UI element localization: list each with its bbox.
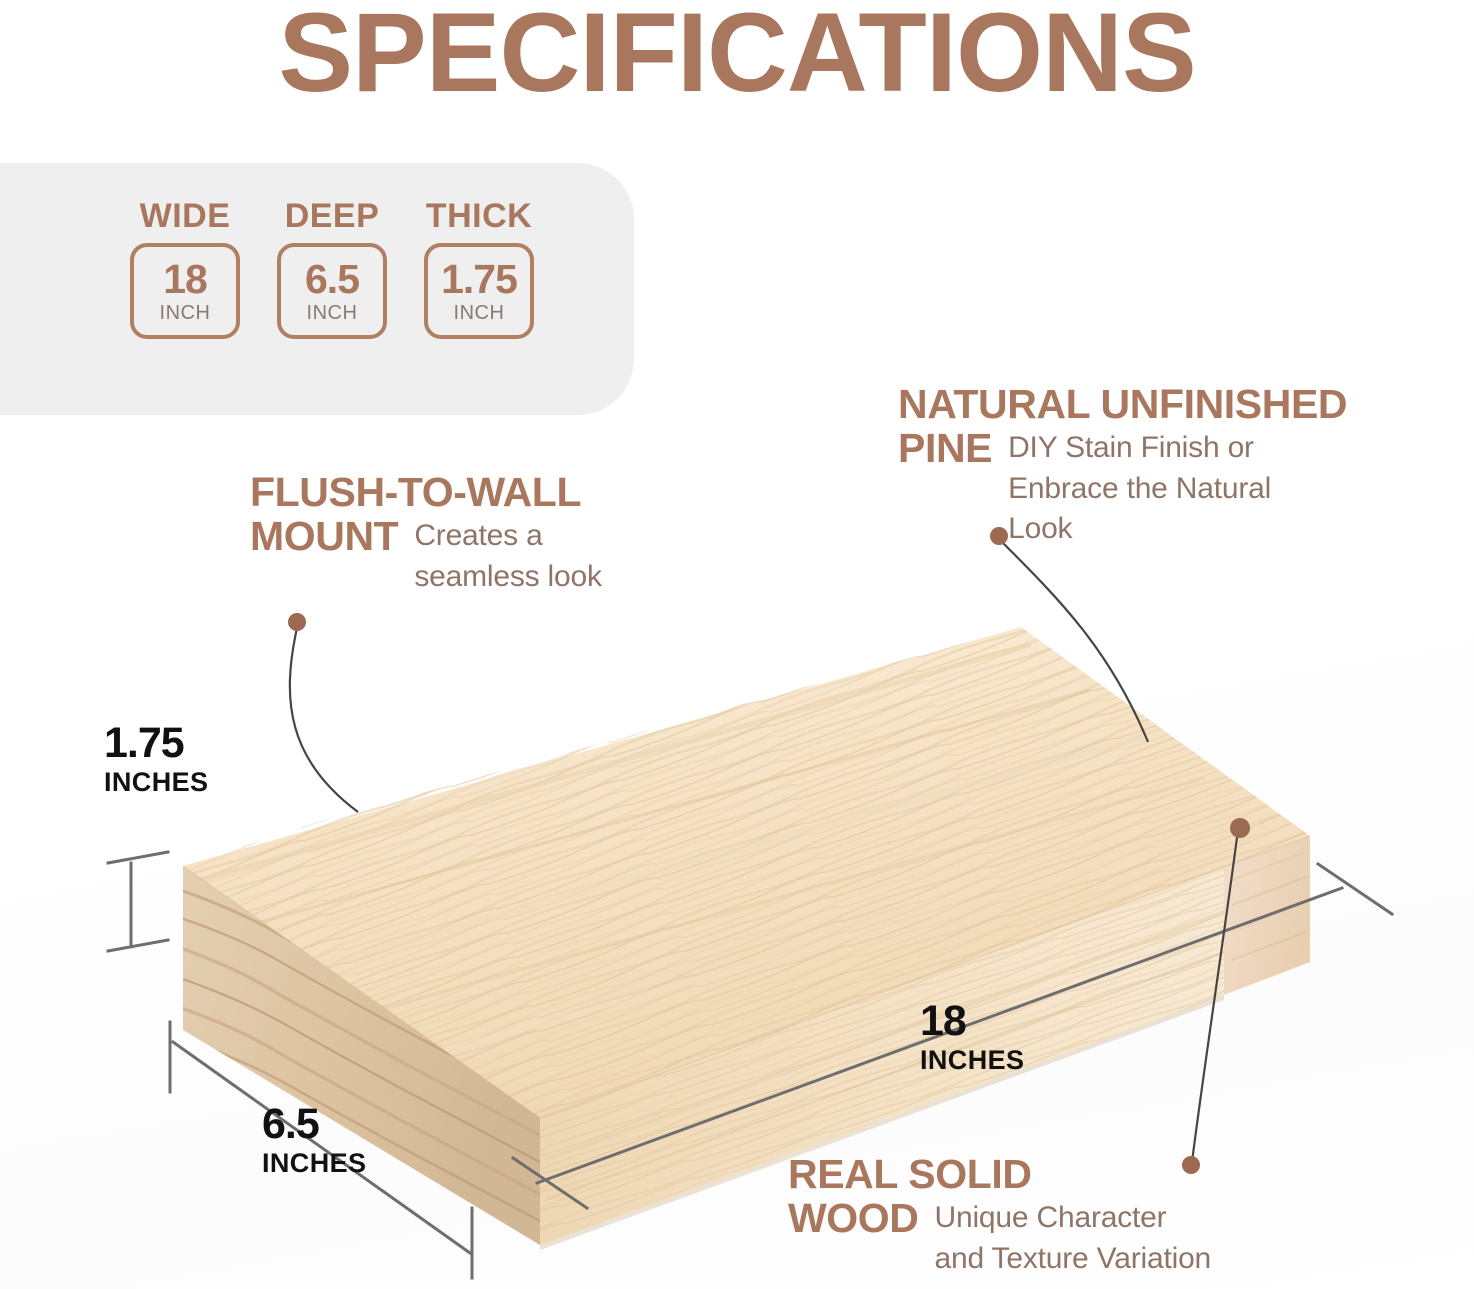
callout-dot-wood xyxy=(1230,818,1250,838)
callout-wood-body-line2: and Texture Variation xyxy=(935,1237,1212,1278)
callout-wood-body-line1: Unique Character xyxy=(935,1196,1212,1237)
callout-wood-heading-line2: WOOD xyxy=(788,1196,919,1240)
callout-flush-heading-line1: FLUSH-TO-WALL xyxy=(250,470,810,514)
callout-flush-to-wall-mount: FLUSH-TO-WALL MOUNT Creates a seamless l… xyxy=(250,470,810,595)
callout-natural-unfinished-pine: NATURAL UNFINISHED PINE DIY Stain Finish… xyxy=(898,382,1474,548)
callout-pine-heading-line1: NATURAL UNFINISHED xyxy=(898,382,1474,426)
dimension-label-length: 18 INCHES xyxy=(920,1000,1024,1074)
callout-flush-body-line1: Creates a xyxy=(414,514,601,555)
callout-pine-body-line3: Look xyxy=(1008,507,1271,548)
callout-flush-heading-line2: MOUNT xyxy=(250,514,398,558)
callout-pine-heading-line2: PINE xyxy=(898,426,992,470)
callout-pine-body-line2: Enbrace the Natural xyxy=(1008,467,1271,508)
dimension-unit-thickness: INCHES xyxy=(104,769,208,796)
dimension-value-thickness: 1.75 xyxy=(104,722,208,765)
dimension-label-depth: 6.5 INCHES xyxy=(262,1103,366,1177)
product-illustration xyxy=(0,0,1474,1289)
callout-flush-body-line2: seamless look xyxy=(414,555,601,596)
callout-pine-body-line1: DIY Stain Finish or xyxy=(1008,426,1271,467)
leader-line-flush xyxy=(290,628,358,812)
dimension-value-depth: 6.5 xyxy=(262,1103,366,1146)
dimension-label-thickness: 1.75 INCHES xyxy=(104,722,208,796)
dimension-unit-depth: INCHES xyxy=(262,1150,366,1177)
callout-wood-heading-line1: REAL SOLID xyxy=(788,1152,1428,1196)
dimension-value-length: 18 xyxy=(920,1000,1024,1043)
infographic-canvas: SPECIFICATIONS WIDE 18 INCH DEEP 6.5 INC… xyxy=(0,0,1474,1289)
callout-dot-flush xyxy=(288,613,306,631)
callout-real-solid-wood: REAL SOLID WOOD Unique Character and Tex… xyxy=(788,1152,1428,1277)
dimension-line-thickness xyxy=(108,852,168,951)
dimension-unit-length: INCHES xyxy=(920,1047,1024,1074)
